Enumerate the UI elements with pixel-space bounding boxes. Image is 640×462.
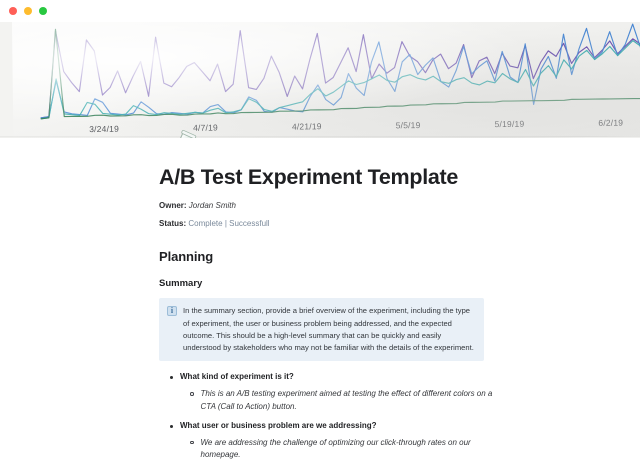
answer-row: We are addressing the challenge of optim… bbox=[159, 437, 499, 462]
x-axis-tick-label: 5/5/19 bbox=[396, 120, 421, 130]
summary-callout: In the summary section, provide a brief … bbox=[159, 298, 484, 361]
owner-label: Owner: bbox=[159, 201, 187, 210]
bullet-disc-icon bbox=[170, 376, 173, 379]
window-maximize-button[interactable] bbox=[39, 7, 47, 15]
status-label: Status: bbox=[159, 219, 186, 228]
line-chart: 3/24/194/7/194/21/195/5/195/19/196/2/19 bbox=[12, 22, 640, 138]
status-badge[interactable]: Complete | Successfull bbox=[188, 219, 269, 228]
chart-photo: 3/24/194/7/194/21/195/5/195/19/196/2/19 bbox=[12, 22, 640, 138]
chart-line-teal-series bbox=[40, 35, 640, 119]
window-title-bar bbox=[0, 0, 640, 22]
chart-line-green-series bbox=[40, 22, 640, 119]
x-axis-tick-label: 5/19/19 bbox=[495, 119, 525, 129]
owner-value: Jordan Smith bbox=[189, 201, 236, 210]
question-row: What user or business problem are we add… bbox=[159, 421, 499, 432]
x-axis-tick-label: 4/21/19 bbox=[292, 121, 322, 131]
owner-row: Owner: Jordan Smith bbox=[159, 201, 499, 211]
x-axis-tick-label: 3/24/19 bbox=[89, 124, 119, 134]
subsection-heading-summary: Summary bbox=[159, 278, 499, 289]
question-text: What user or business problem are we add… bbox=[180, 421, 377, 432]
x-axis-tick-label: 6/2/19 bbox=[598, 118, 623, 128]
question-row: What kind of experiment is it? bbox=[159, 372, 499, 383]
document-body: A/B Test Experiment Template Owner: Jord… bbox=[0, 138, 640, 462]
section-heading-planning: Planning bbox=[159, 249, 499, 264]
x-axis-tick-label: 4/7/19 bbox=[193, 122, 218, 132]
info-icon bbox=[167, 306, 177, 316]
list-item: What user or business problem are we add… bbox=[159, 421, 499, 462]
bullet-circle-icon bbox=[190, 392, 194, 396]
callout-text: In the summary section, provide a brief … bbox=[183, 305, 475, 354]
status-row: Status: Complete | Successfull bbox=[159, 219, 499, 229]
chart-line-purple-series bbox=[40, 24, 640, 118]
bullet-circle-icon bbox=[190, 441, 194, 445]
question-text: What kind of experiment is it? bbox=[180, 372, 294, 383]
window-minimize-button[interactable] bbox=[24, 7, 32, 15]
bullet-disc-icon bbox=[170, 425, 173, 428]
list-item: What kind of experiment is it?This is an… bbox=[159, 372, 499, 413]
answer-text: We are addressing the challenge of optim… bbox=[201, 437, 493, 462]
answer-text: This is an A/B testing experiment aimed … bbox=[201, 388, 493, 413]
answer-row: This is an A/B testing experiment aimed … bbox=[159, 388, 499, 413]
cover-banner-image[interactable]: 3/24/194/7/194/21/195/5/195/19/196/2/19 bbox=[0, 22, 640, 138]
chart-line-blue-series bbox=[40, 24, 640, 118]
window-close-button[interactable] bbox=[9, 7, 17, 15]
question-list: What kind of experiment is it?This is an… bbox=[159, 372, 499, 461]
page-title: A/B Test Experiment Template bbox=[159, 165, 499, 190]
